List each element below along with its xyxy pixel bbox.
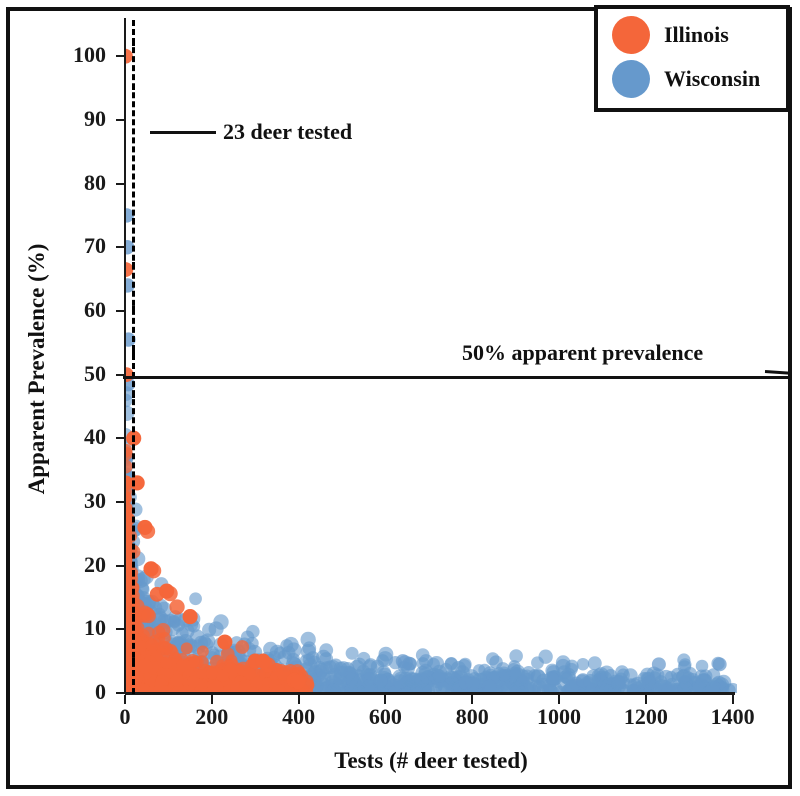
x-tick-800	[471, 695, 473, 704]
y-tick-label-80: 80	[50, 172, 106, 194]
y-tick-label-20: 20	[50, 554, 106, 576]
y-tick-label-50: 50	[50, 363, 106, 385]
x-tick-1400	[732, 695, 734, 704]
x-tick-label-0: 0	[80, 706, 170, 728]
figure-root: 0102030405060708090100 02004006008001000…	[0, 0, 800, 796]
x-tick-200	[211, 695, 213, 704]
y-tick-40	[116, 437, 125, 439]
y-tick-0	[116, 692, 125, 694]
x-tick-label-200: 200	[167, 706, 257, 728]
y-tick-label-40: 40	[50, 426, 106, 448]
horizontal-threshold-line-50-percent	[123, 376, 788, 379]
x-tick-1200	[645, 695, 647, 704]
y-tick-100	[116, 55, 125, 57]
x-axis-line	[125, 692, 735, 695]
x-tick-400	[298, 695, 300, 704]
legend-entry-wisconsin[interactable]: Wisconsin	[612, 60, 760, 98]
annotation-label-50-percent: 50% apparent prevalence	[462, 340, 703, 366]
y-tick-80	[116, 183, 125, 185]
y-tick-10	[116, 628, 125, 630]
y-tick-label-90: 90	[50, 108, 106, 130]
y-tick-90	[116, 119, 125, 121]
annotation-label-23-deer: 23 deer tested	[223, 119, 352, 145]
legend-box: Illinois Wisconsin	[594, 5, 790, 112]
y-tick-label-0: 0	[50, 681, 106, 703]
x-tick-label-1000: 1000	[514, 706, 604, 728]
y-tick-label-30: 30	[50, 490, 106, 512]
x-axis-title: Tests (# deer tested)	[125, 748, 737, 774]
y-tick-label-60: 60	[50, 299, 106, 321]
y-tick-20	[116, 565, 125, 567]
annotation-leader-line-23-deer	[150, 131, 216, 134]
y-tick-70	[116, 246, 125, 248]
x-tick-label-1400: 1400	[688, 706, 778, 728]
legend-entry-illinois[interactable]: Illinois	[612, 16, 729, 54]
y-tick-label-70: 70	[50, 235, 106, 257]
legend-swatch-illinois	[612, 16, 650, 54]
vertical-threshold-dashdot-dots	[132, 20, 135, 694]
legend-label-illinois: Illinois	[664, 22, 729, 48]
y-tick-60	[116, 310, 125, 312]
x-tick-0	[124, 695, 126, 704]
y-tick-label-100: 100	[50, 44, 106, 66]
x-tick-label-600: 600	[340, 706, 430, 728]
x-tick-600	[384, 695, 386, 704]
y-tick-30	[116, 501, 125, 503]
x-tick-1000	[558, 695, 560, 704]
x-tick-label-800: 800	[427, 706, 517, 728]
legend-label-wisconsin: Wisconsin	[664, 66, 760, 92]
x-tick-label-1200: 1200	[601, 706, 691, 728]
legend-swatch-wisconsin	[612, 60, 650, 98]
x-tick-label-400: 400	[254, 706, 344, 728]
y-tick-label-10: 10	[50, 617, 106, 639]
y-axis-title: Apparent Prevalence (%)	[24, 89, 50, 649]
